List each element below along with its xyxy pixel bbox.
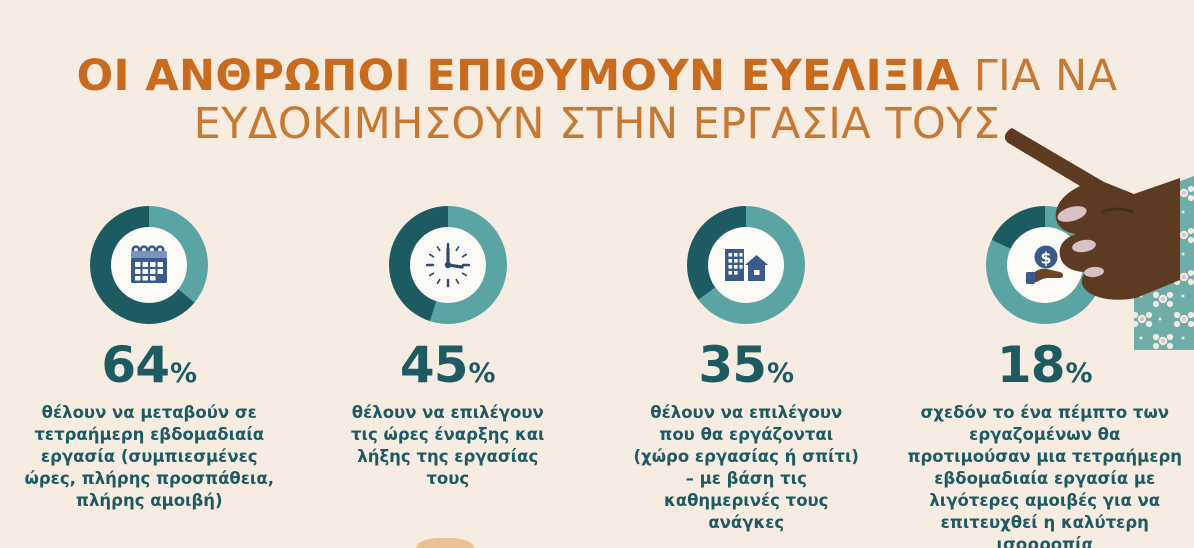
stat-number: 18: [997, 336, 1065, 394]
stat-card-flexible-hours: 45% θέλουν να επιλέγουν τις ώρες έναρξης…: [299, 206, 598, 548]
title-emphasis: ΟΙ ΑΝΘΡΩΠΟΙ ΕΠΙΘΥΜΟΥΝ ΕΥΕΛΙΞΙΑ: [77, 51, 960, 101]
stat-caption: θέλουν να επιλέγουν που θα εργάζονται (χ…: [632, 402, 860, 534]
donut-chart-64: [90, 206, 208, 324]
svg-text:$: $: [1040, 249, 1051, 268]
title-line-1: ΟΙ ΑΝΘΡΩΠΟΙ ΕΠΙΘΥΜΟΥΝ ΕΥΕΛΙΞΙΑ ΓΙΑ ΝΑ: [0, 52, 1194, 100]
hand-holding-money-icon: $: [1021, 244, 1069, 286]
stat-number: 35: [698, 336, 766, 394]
donut-chart-18: $: [986, 206, 1104, 324]
percent-symbol: %: [1066, 358, 1093, 389]
infographic-canvas: ΟΙ ΑΝΘΡΩΠΟΙ ΕΠΙΘΥΜΟΥΝ ΕΥΕΛΙΞΙΑ ΓΙΑ ΝΑ ΕΥ…: [0, 0, 1194, 548]
donut-inner-circle: $: [1007, 227, 1083, 303]
clock-icon: [423, 240, 473, 290]
stat-value: 64%: [101, 340, 197, 390]
stat-value: 18%: [997, 340, 1093, 390]
stat-value: 45%: [400, 340, 496, 390]
donut-inner-circle: [708, 227, 784, 303]
stat-caption: σχεδόν το ένα πέμπτο των εργαζομένων θα …: [907, 402, 1182, 548]
percent-symbol: %: [469, 358, 496, 389]
percent-symbol: %: [767, 358, 794, 389]
stat-value: 35%: [698, 340, 794, 390]
donut-chart-45: [389, 206, 507, 324]
stat-caption: θέλουν να επιλέγουν τις ώρες έναρξης και…: [350, 402, 546, 490]
stat-card-work-location: 35% θέλουν να επιλέγουν που θα εργάζοντα…: [597, 206, 896, 548]
page-title: ΟΙ ΑΝΘΡΩΠΟΙ ΕΠΙΘΥΜΟΥΝ ΕΥΕΛΙΞΙΑ ΓΙΑ ΝΑ ΕΥ…: [0, 52, 1194, 148]
stats-row: 64% θέλουν να μεταβούν σε τετραήμερη εβδ…: [0, 206, 1194, 548]
stat-caption: θέλουν να μεταβούν σε τετραήμερη εβδομαδ…: [24, 402, 274, 512]
stat-card-less-pay-tradeoff: $ 18% σχεδόν το ένα πέμπτο των εργαζομέν…: [896, 206, 1194, 548]
calendar-icon: [126, 242, 172, 288]
stat-card-four-day-week: 64% θέλουν να μεταβούν σε τετραήμερη εβδ…: [0, 206, 299, 548]
stat-number: 45: [400, 336, 468, 394]
percent-symbol: %: [170, 358, 197, 389]
donut-chart-35: [687, 206, 805, 324]
stat-number: 64: [101, 336, 169, 394]
donut-inner-circle: [410, 227, 486, 303]
donut-inner-circle: [111, 227, 187, 303]
title-line-1-tail: ΓΙΑ ΝΑ: [960, 51, 1118, 101]
office-and-home-icon: [721, 243, 771, 287]
title-line-2: ΕΥΔΟΚΙΜΗΣΟΥΝ ΣΤΗΝ ΕΡΓΑΣΙΑ ΤΟΥΣ: [0, 100, 1194, 148]
